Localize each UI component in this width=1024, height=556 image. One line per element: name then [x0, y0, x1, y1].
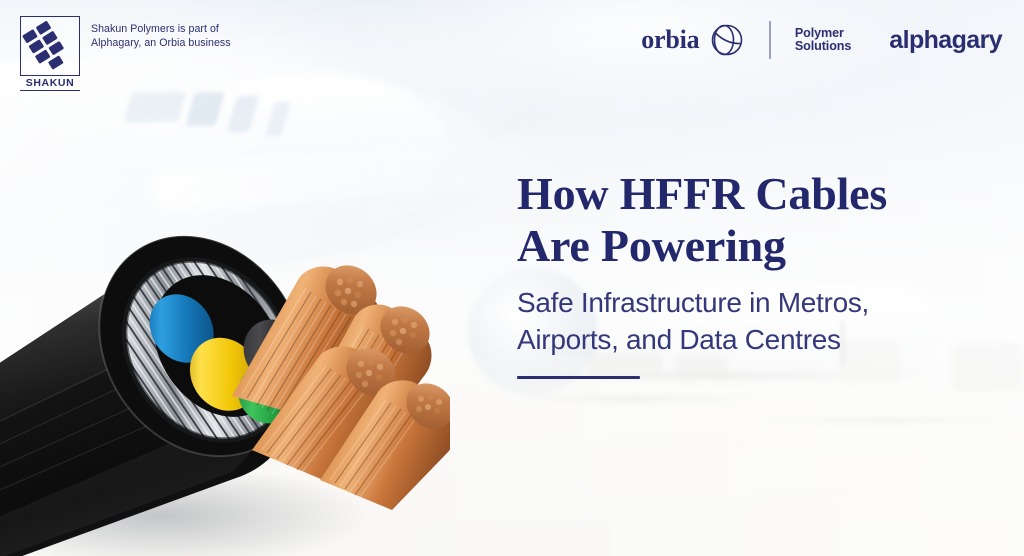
- brand-tagline: Shakun Polymers is part of Alphagary, an…: [91, 16, 231, 50]
- marketing-banner: SHAKUN Shakun Polymers is part of Alphag…: [0, 0, 1024, 556]
- partner-logo-row: orbia Polymer Solutions alphagary: [641, 20, 1002, 60]
- subhead-line1: Safe Infrastructure in Metros,: [517, 287, 869, 318]
- shakun-wordmark: SHAKUN: [20, 77, 80, 91]
- headline-block: How HFFR Cables Are Powering Safe Infras…: [517, 168, 987, 379]
- alphagary-wordmark[interactable]: alphagary: [889, 28, 1002, 53]
- brand-tagline-line1: Shakun Polymers is part of: [91, 22, 231, 36]
- polymer-solutions-line2: Solutions: [795, 40, 851, 54]
- hffr-cable-illustration: [0, 150, 450, 556]
- page-subtitle: Safe Infrastructure in Metros, Airports,…: [517, 284, 987, 358]
- headline-line1: How HFFR Cables: [517, 168, 887, 219]
- orbia-wordmark: orbia: [641, 27, 699, 53]
- polymer-solutions-wordmark: Polymer Solutions: [795, 27, 851, 54]
- accent-underline: [517, 376, 640, 379]
- shakun-logo-mark: [20, 16, 80, 76]
- shakun-diamond-grid-icon: [21, 17, 77, 73]
- orbia-circles-icon: [707, 20, 747, 60]
- brand-tagline-line2: Alphagary, an Orbia business: [91, 36, 231, 50]
- brand-lockup: SHAKUN Shakun Polymers is part of Alphag…: [20, 16, 231, 91]
- polymer-solutions-line1: Polymer: [795, 27, 851, 41]
- page-title: How HFFR Cables Are Powering: [517, 168, 987, 272]
- subhead-line2: Airports, and Data Centres: [517, 324, 841, 355]
- headline-line2: Are Powering: [517, 220, 786, 271]
- logo-divider: [769, 21, 770, 59]
- shakun-logo[interactable]: SHAKUN: [20, 16, 80, 91]
- orbia-logo[interactable]: orbia: [641, 20, 747, 60]
